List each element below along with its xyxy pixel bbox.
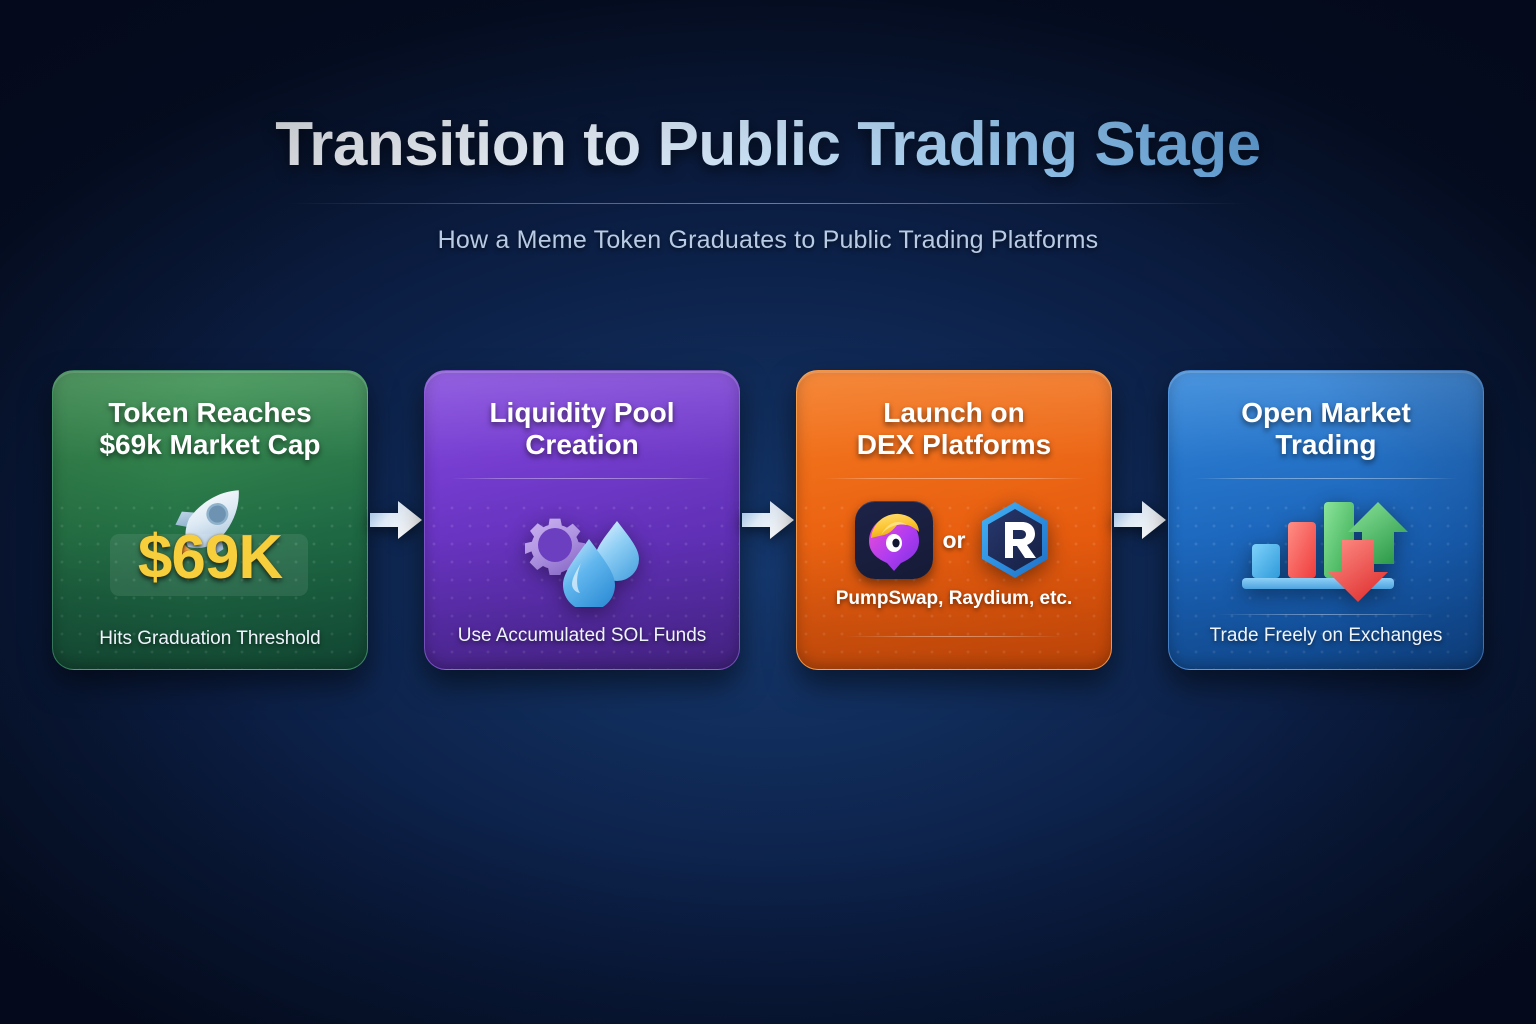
card-title-line1: Open Market (1241, 397, 1411, 428)
card-title-line1: Liquidity Pool (489, 397, 674, 428)
infographic-canvas: Transition to Public Trading Stage How a… (0, 0, 1536, 1024)
card-title-line2: $69k Market Cap (99, 429, 320, 461)
card-title-line2: DEX Platforms (857, 429, 1052, 461)
flow-arrow-1 (368, 370, 424, 670)
card-title-line1: Token Reaches (108, 397, 311, 428)
card-footer-area: Trade Freely on Exchanges (1210, 614, 1443, 669)
card-title: Liquidity Pool Creation (489, 397, 674, 462)
rocket-and-badge-group: $69K (90, 478, 330, 628)
flow-row: Token Reaches $69k Market Cap (52, 370, 1484, 670)
card-footer-text: Trade Freely on Exchanges (1210, 625, 1443, 646)
card-footer-area (845, 636, 1063, 669)
page-title: Transition to Public Trading Stage (0, 112, 1536, 177)
flow-card-token-reaches-market-cap[interactable]: Token Reaches $69k Market Cap (52, 370, 368, 670)
arrow-right-icon (1112, 498, 1168, 542)
card-footer-text: Hits Graduation Threshold (99, 628, 320, 670)
raydium-logo-icon (976, 500, 1054, 580)
card-footer-divider (1217, 614, 1435, 615)
page-subtitle: How a Meme Token Graduates to Public Tra… (0, 226, 1536, 255)
header: Transition to Public Trading Stage How a… (0, 112, 1536, 255)
card-title: Token Reaches $69k Market Cap (99, 397, 320, 462)
card-title: Open Market Trading (1241, 397, 1411, 462)
pumpswap-logo-icon (855, 501, 933, 579)
card-footer-text: Use Accumulated SOL Funds (458, 625, 707, 669)
flow-card-liquidity-pool-creation[interactable]: Liquidity Pool Creation (424, 370, 740, 670)
bar-chart-with-arrows-icon (1238, 490, 1414, 602)
flow-arrow-3 (1112, 370, 1168, 670)
title-divider (288, 203, 1248, 204)
card-title-line2: Creation (489, 429, 674, 461)
arrow-right-icon (368, 498, 424, 542)
card-title-line1: Launch on (883, 397, 1025, 428)
card-title: Launch on DEX Platforms (857, 397, 1052, 462)
flow-card-launch-on-dex-platforms[interactable]: Launch on DEX Platforms (796, 370, 1112, 670)
logo-connector-word: or (943, 527, 966, 554)
card-footer-divider (845, 636, 1063, 637)
flow-arrow-2 (740, 370, 796, 670)
arrow-right-icon (740, 498, 796, 542)
flow-card-open-market-trading[interactable]: Open Market Trading (1168, 370, 1484, 670)
dex-platforms-label: PumpSwap, Raydium, etc. (836, 588, 1073, 610)
card-title-line2: Trading (1241, 429, 1411, 461)
market-cap-badge-value: $69K (96, 522, 324, 593)
dex-logos-group: or (855, 500, 1054, 580)
gear-and-water-drops-icon (507, 495, 657, 607)
